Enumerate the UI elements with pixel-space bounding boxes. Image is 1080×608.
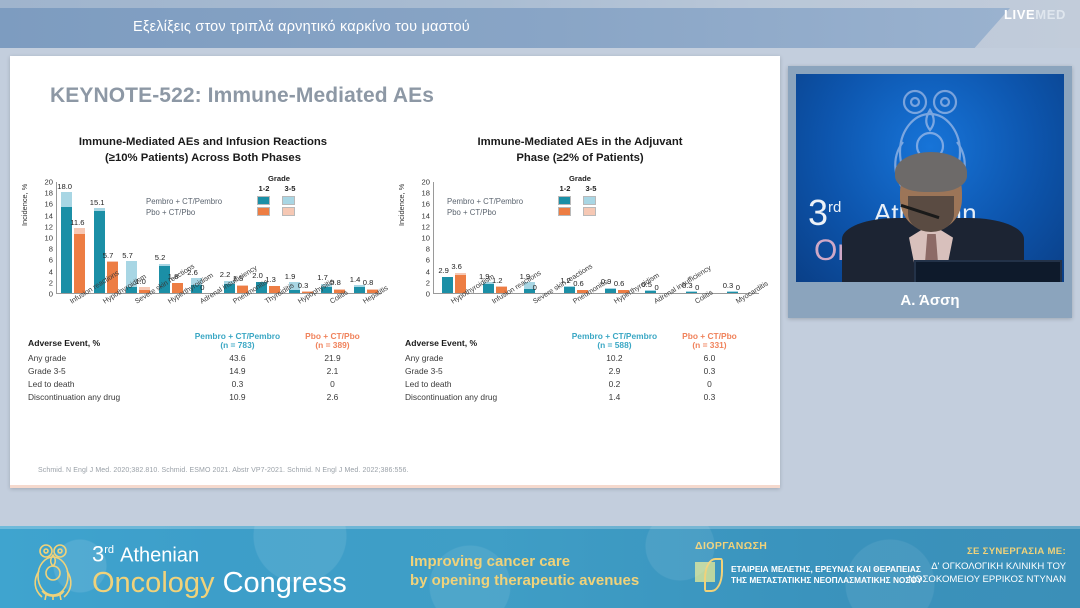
table-cell-pbo: 2.6 bbox=[285, 391, 380, 404]
bar-segment-grade-1-2 bbox=[442, 277, 453, 293]
banner-organizer-header: ΔΙΟΡΓΑΝΩΣΗ bbox=[695, 540, 922, 552]
bar bbox=[74, 228, 85, 293]
y-axis-right: 02468101214161820 bbox=[409, 182, 433, 294]
banner-tagline-line2: by opening therapeutic avenues bbox=[410, 571, 639, 590]
speaker-video-feed[interactable]: 3rd Athenian Oncology bbox=[796, 74, 1064, 282]
legend-swatch-pbo-grade35-right bbox=[583, 207, 596, 216]
bar bbox=[61, 192, 72, 293]
table-cell-event: Led to death bbox=[405, 378, 567, 391]
y-tick: 20 bbox=[45, 179, 53, 186]
table-cell-pbo: 0.3 bbox=[662, 391, 757, 404]
y-tick: 0 bbox=[426, 291, 430, 298]
legend-grade-header-left: Grade bbox=[256, 174, 302, 183]
table-col-header-event-left: Adverse Event, % bbox=[28, 330, 190, 351]
table-cell-pbo: 6.0 bbox=[662, 351, 757, 364]
table-cell-pembro: 43.6 bbox=[190, 351, 285, 364]
table-row: Any grade43.621.9 bbox=[28, 351, 380, 364]
table-cell-pembro: 10.2 bbox=[567, 351, 662, 364]
y-tick: 8 bbox=[426, 246, 430, 253]
table-col-header-pembro-left: Pembro + CT/Pembro(n = 783) bbox=[190, 330, 285, 351]
slide-bottom-accent bbox=[10, 485, 780, 488]
banner-coop-line1: Δ' ΟΓΚΟΛΟΓΙΚΗ ΚΛΙΝΙΚΗ ΤΟΥ bbox=[908, 560, 1066, 573]
banner-logo-athenian: Athenian bbox=[120, 544, 199, 566]
legend-swatch-pembro-grade12-left bbox=[257, 196, 270, 205]
livemed-logo-med: MED bbox=[1035, 7, 1066, 22]
banner-tagline-line1: Improving cancer care bbox=[410, 552, 639, 571]
bar-value-label: 0.6 bbox=[573, 280, 584, 288]
bar-value-label: 15.1 bbox=[90, 199, 105, 207]
table-row: Discontinuation any drug1.40.3 bbox=[405, 391, 757, 404]
legend-row-label-0-left: Pembro + CT/Pembro bbox=[146, 196, 222, 207]
livemed-logo-live: LIVE bbox=[1004, 7, 1035, 22]
y-axis-label-left: Incidence, % bbox=[20, 184, 29, 226]
table-cell-event: Grade 3-5 bbox=[28, 364, 190, 377]
banner-organizer: ΔΙΟΡΓΑΝΩΣΗ ΕΤΑΙΡΕΙΑ ΜΕΛΕΤΗΣ, ΕΡΕΥΝΑΣ ΚΑΙ… bbox=[695, 540, 922, 592]
bar-value-label: 5.7 bbox=[103, 252, 114, 260]
bar-segment-grade-1-2 bbox=[354, 287, 365, 293]
organizer-logo-icon bbox=[695, 558, 725, 592]
bar bbox=[605, 288, 616, 293]
chart-panel-right: Immune-Mediated AEs in the Adjuvant Phas… bbox=[395, 134, 765, 464]
legend-swatch-pembro-grade35-left bbox=[282, 196, 295, 205]
legend-left: Pembro + CT/Pembro Pbo + CT/Pbo bbox=[146, 196, 222, 218]
table-row: Discontinuation any drug10.92.6 bbox=[28, 391, 380, 404]
table-row: Grade 3-52.90.3 bbox=[405, 364, 757, 377]
banner-logo: 3rd Athenian Oncology Congress bbox=[92, 538, 347, 599]
y-tick: 12 bbox=[45, 223, 53, 230]
banner-cooperation: ΣΕ ΣΥΝΕΡΓΑΣΙΑ ΜΕ: Δ' ΟΓΚΟΛΟΓΙΚΗ ΚΛΙΝΙΚΗ … bbox=[908, 546, 1066, 586]
bar-value-label: 11.6 bbox=[70, 219, 84, 227]
banner-top-edge bbox=[0, 526, 1080, 529]
table-header-row-right: Adverse Event, % Pembro + CT/Pembro(n = … bbox=[405, 330, 757, 351]
bar-value-label: 18.0 bbox=[57, 183, 72, 191]
banner-organizer-text: ΕΤΑΙΡΕΙΑ ΜΕΛΕΤΗΣ, ΕΡΕΥΝΑΣ ΚΑΙ ΘΕΡΑΠΕΙΑΣ … bbox=[731, 564, 922, 586]
table-cell-pembro: 0.2 bbox=[567, 378, 662, 391]
table-cell-pbo: 21.9 bbox=[285, 351, 380, 364]
legend-grade-header-right: Grade bbox=[557, 174, 603, 183]
bar-segment-grade-1-2 bbox=[686, 292, 697, 293]
table-cell-pembro: 2.9 bbox=[567, 364, 662, 377]
legend-swatch-pbo-grade12-right bbox=[558, 207, 571, 216]
y-axis-left: 02468101214161820 bbox=[32, 182, 56, 294]
table-col-header-pembro-right: Pembro + CT/Pembro(n = 588) bbox=[567, 330, 662, 351]
table-col-header-pbo-left: Pbo + CT/Pbo(n = 389) bbox=[285, 330, 380, 351]
table-cell-pbo: 0 bbox=[285, 378, 380, 391]
bar-value-label: 0.6 bbox=[614, 280, 625, 288]
y-tick: 10 bbox=[45, 235, 53, 242]
legend-swatch-pembro-grade12-right bbox=[558, 196, 571, 205]
bar-value-label: 0 bbox=[533, 284, 537, 292]
table-cell-pbo: 0 bbox=[662, 378, 757, 391]
bar bbox=[727, 291, 738, 293]
table-cell-event: Discontinuation any drug bbox=[28, 391, 190, 404]
banner-organizer-line2: ΤΗΣ ΜΕΤΑΣΤΑΤΙΚΗΣ ΝΕΟΠΛΑΣΜΑΤΙΚΗΣ ΝΟΣΟΥ bbox=[731, 575, 922, 586]
y-tick: 4 bbox=[49, 268, 53, 275]
table-row: Grade 3-514.92.1 bbox=[28, 364, 380, 377]
legend-grade-col-1-right: 3-5 bbox=[581, 184, 601, 193]
chart-title-left-line2: (≥10% Patients) Across Both Phases bbox=[36, 150, 370, 166]
y-tick: 14 bbox=[422, 212, 430, 219]
chart-title-right-line1: Immune-Mediated AEs in the Adjuvant bbox=[413, 134, 747, 150]
chart-title-right-line2: Phase (≥2% of Patients) bbox=[413, 150, 747, 166]
table-header-row-left: Adverse Event, % Pembro + CT/Pembro(n = … bbox=[28, 330, 380, 351]
banner-logo-oncology: Oncology bbox=[92, 567, 215, 599]
y-tick: 4 bbox=[426, 268, 430, 275]
table-col-header-event-right: Adverse Event, % bbox=[405, 330, 567, 351]
legend-row-label-1-right: Pbo + CT/Pbo bbox=[447, 207, 523, 218]
bar-value-label: 5.7 bbox=[122, 252, 133, 260]
banner-coop-line2: ΝΟΣΟΚΟΜΕΙΟΥ ΕΡΡΙΚΟΣ ΝΤΥΝΑΝ bbox=[908, 573, 1066, 586]
bar-value-label: 5.2 bbox=[155, 254, 166, 262]
table-cell-pbo: 0.3 bbox=[662, 364, 757, 377]
table-row: Any grade10.26.0 bbox=[405, 351, 757, 364]
y-tick: 16 bbox=[45, 201, 53, 208]
y-tick: 14 bbox=[45, 212, 53, 219]
bar-segment-grade-1-2 bbox=[605, 289, 616, 293]
legend-grade-col-0-right: 1-2 bbox=[555, 184, 575, 193]
bar-value-label: 3.6 bbox=[451, 263, 462, 271]
bar-value-label: 0.3 bbox=[298, 282, 309, 290]
banner-owl-icon bbox=[26, 540, 82, 600]
bar-value-label: 0.3 bbox=[723, 282, 734, 290]
speaker-name: Α. Άσση bbox=[796, 282, 1064, 318]
table-cell-pembro: 10.9 bbox=[190, 391, 285, 404]
session-title: Εξελίξεις στον τριπλά αρνητικό καρκίνο τ… bbox=[133, 19, 470, 35]
legend-swatch-pembro-grade35-right bbox=[583, 196, 596, 205]
top-bar: Εξελίξεις στον τριπλά αρνητικό καρκίνο τ… bbox=[0, 0, 1080, 48]
bar-value-label: 0.8 bbox=[363, 279, 374, 287]
y-tick: 20 bbox=[422, 179, 430, 186]
table-cell-event: Led to death bbox=[28, 378, 190, 391]
banner-organizer-line1: ΕΤΑΙΡΕΙΑ ΜΕΛΕΤΗΣ, ΕΡΕΥΝΑΣ ΚΑΙ ΘΕΡΑΠΕΙΑΣ bbox=[731, 564, 922, 575]
summary-table-left: Adverse Event, % Pembro + CT/Pembro(n = … bbox=[28, 330, 380, 404]
chart-panel-left: Immune-Mediated AEs and Infusion Reactio… bbox=[18, 134, 388, 464]
banner-coop-header: ΣΕ ΣΥΝΕΡΓΑΣΙΑ ΜΕ: bbox=[908, 546, 1066, 557]
table-col-header-pbo-right: Pbo + CT/Pbo(n = 331) bbox=[662, 330, 757, 351]
bar-segment-grade-1-2 bbox=[564, 287, 575, 293]
bar-value-label: 0 bbox=[654, 284, 658, 292]
bar-segment-grade-1-2 bbox=[727, 292, 738, 293]
y-axis-label-right: Incidence, % bbox=[397, 184, 406, 226]
table-cell-event: Any grade bbox=[28, 351, 190, 364]
legend-grade-col-1-left: 3-5 bbox=[280, 184, 300, 193]
video-backdrop-ordinal: 3rd bbox=[808, 192, 841, 234]
presentation-slide[interactable]: KEYNOTE-522: Immune-Mediated AEs Immune-… bbox=[10, 56, 780, 488]
livemed-logo: LIVEMED bbox=[1004, 7, 1066, 22]
banner-tagline: Improving cancer care by opening therape… bbox=[410, 552, 639, 590]
laptop bbox=[914, 260, 1062, 282]
bar-value-label: 2.9 bbox=[438, 267, 449, 275]
y-tick: 2 bbox=[49, 279, 53, 286]
legend-row-label-0-right: Pembro + CT/Pembro bbox=[447, 196, 523, 207]
table-cell-pembro: 14.9 bbox=[190, 364, 285, 377]
table-cell-event: Grade 3-5 bbox=[405, 364, 567, 377]
banner-logo-line2: Oncology Congress bbox=[92, 567, 347, 599]
y-tick: 6 bbox=[49, 257, 53, 264]
y-tick: 12 bbox=[422, 223, 430, 230]
chart-title-left-line1: Immune-Mediated AEs and Infusion Reactio… bbox=[36, 134, 370, 150]
table-cell-event: Any grade bbox=[405, 351, 567, 364]
y-tick: 18 bbox=[422, 190, 430, 197]
table-cell-pembro: 1.4 bbox=[567, 391, 662, 404]
legend-right: Pembro + CT/Pembro Pbo + CT/Pbo bbox=[447, 196, 523, 218]
table-row: Led to death0.20 bbox=[405, 378, 757, 391]
chart-title-left: Immune-Mediated AEs and Infusion Reactio… bbox=[18, 134, 388, 166]
bar-value-label: 0 bbox=[695, 284, 699, 292]
table-cell-event: Discontinuation any drug bbox=[405, 391, 567, 404]
bar bbox=[442, 277, 453, 293]
legend-swatch-pbo-grade35-left bbox=[282, 207, 295, 216]
bar bbox=[686, 291, 697, 293]
chart-title-right: Immune-Mediated AEs in the Adjuvant Phas… bbox=[395, 134, 765, 166]
banner-logo-congress: Congress bbox=[223, 567, 347, 599]
bar-value-label: 1.4 bbox=[350, 276, 361, 284]
table-cell-pembro: 0.3 bbox=[190, 378, 285, 391]
banner-logo-ordinal: 3 bbox=[92, 541, 104, 566]
summary-table-right: Adverse Event, % Pembro + CT/Pembro(n = … bbox=[405, 330, 757, 404]
table-row: Led to death0.30 bbox=[28, 378, 380, 391]
y-tick: 2 bbox=[426, 279, 430, 286]
y-tick: 16 bbox=[422, 201, 430, 208]
y-tick: 0 bbox=[49, 291, 53, 298]
table-cell-pbo: 2.1 bbox=[285, 364, 380, 377]
slide-citation: Schmid. N Engl J Med. 2020;382.810. Schm… bbox=[38, 467, 409, 474]
y-tick: 10 bbox=[422, 235, 430, 242]
bar-segment-grade-3-5 bbox=[61, 192, 72, 207]
speaker-video-panel[interactable]: 3rd Athenian Oncology Α. Άσση bbox=[788, 66, 1072, 318]
legend-grade-col-0-left: 1-2 bbox=[254, 184, 274, 193]
slide-title: KEYNOTE-522: Immune-Mediated AEs bbox=[50, 84, 434, 108]
bar-segment-grade-1-2 bbox=[74, 234, 85, 293]
y-tick: 6 bbox=[426, 257, 430, 264]
bar-value-label: 0 bbox=[736, 284, 740, 292]
y-tick: 18 bbox=[45, 190, 53, 197]
bottom-banner: 3rd Athenian Oncology Congress Improving… bbox=[0, 526, 1080, 608]
banner-coop-text: Δ' ΟΓΚΟΛΟΓΙΚΗ ΚΛΙΝΙΚΗ ΤΟΥ ΝΟΣΟΚΟΜΕΙΟΥ ΕΡ… bbox=[908, 560, 1066, 586]
y-tick: 8 bbox=[49, 246, 53, 253]
banner-logo-line1: 3rd Athenian bbox=[92, 538, 347, 567]
legend-swatch-pbo-grade12-left bbox=[257, 207, 270, 216]
speaker-hair bbox=[895, 152, 967, 192]
legend-row-label-1-left: Pbo + CT/Pbo bbox=[146, 207, 222, 218]
